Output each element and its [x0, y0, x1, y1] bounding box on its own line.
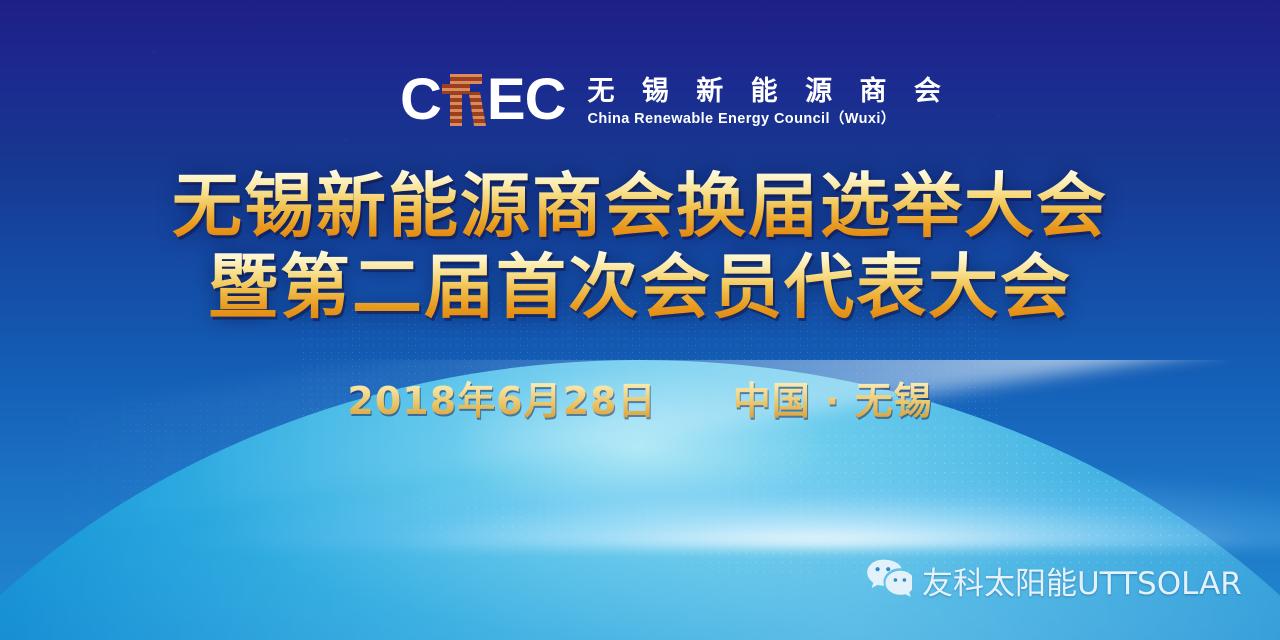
page-title: 无锡新能源商会换届选举大会 暨第二届首次会员代表大会: [0, 166, 1280, 328]
headline-line-2: 暨第二届首次会员代表大会: [0, 247, 1280, 328]
org-name-en: China Renewable Energy Council（Wuxi）: [587, 107, 949, 128]
crec-logo: C: [400, 70, 950, 130]
event-details: 2018年6月28日 中国 · 无锡: [0, 370, 1280, 425]
crec-wordmark: C: [400, 70, 565, 130]
crec-letter-c2: C: [525, 71, 566, 129]
crec-letter-e: E: [487, 71, 525, 129]
event-date: 2018年6月28日: [347, 370, 656, 425]
watermark: 友科太阳能UTTSOLAR: [866, 558, 1242, 603]
event-location: 中国 · 无锡: [733, 370, 933, 425]
organization-names: 无 锡 新 能 源 商 会 China Renewable Energy Cou…: [587, 78, 949, 130]
crec-letter-c1: C: [400, 71, 441, 129]
watermark-label: 友科太阳能UTTSOLAR: [922, 558, 1242, 603]
headline-line-1: 无锡新能源商会换届选举大会: [0, 166, 1280, 247]
conference-poster: C: [0, 0, 1280, 640]
striped-r-icon: [442, 72, 486, 128]
wechat-icon: [866, 558, 912, 603]
org-name-cn: 无 锡 新 能 源 商 会: [587, 78, 949, 106]
